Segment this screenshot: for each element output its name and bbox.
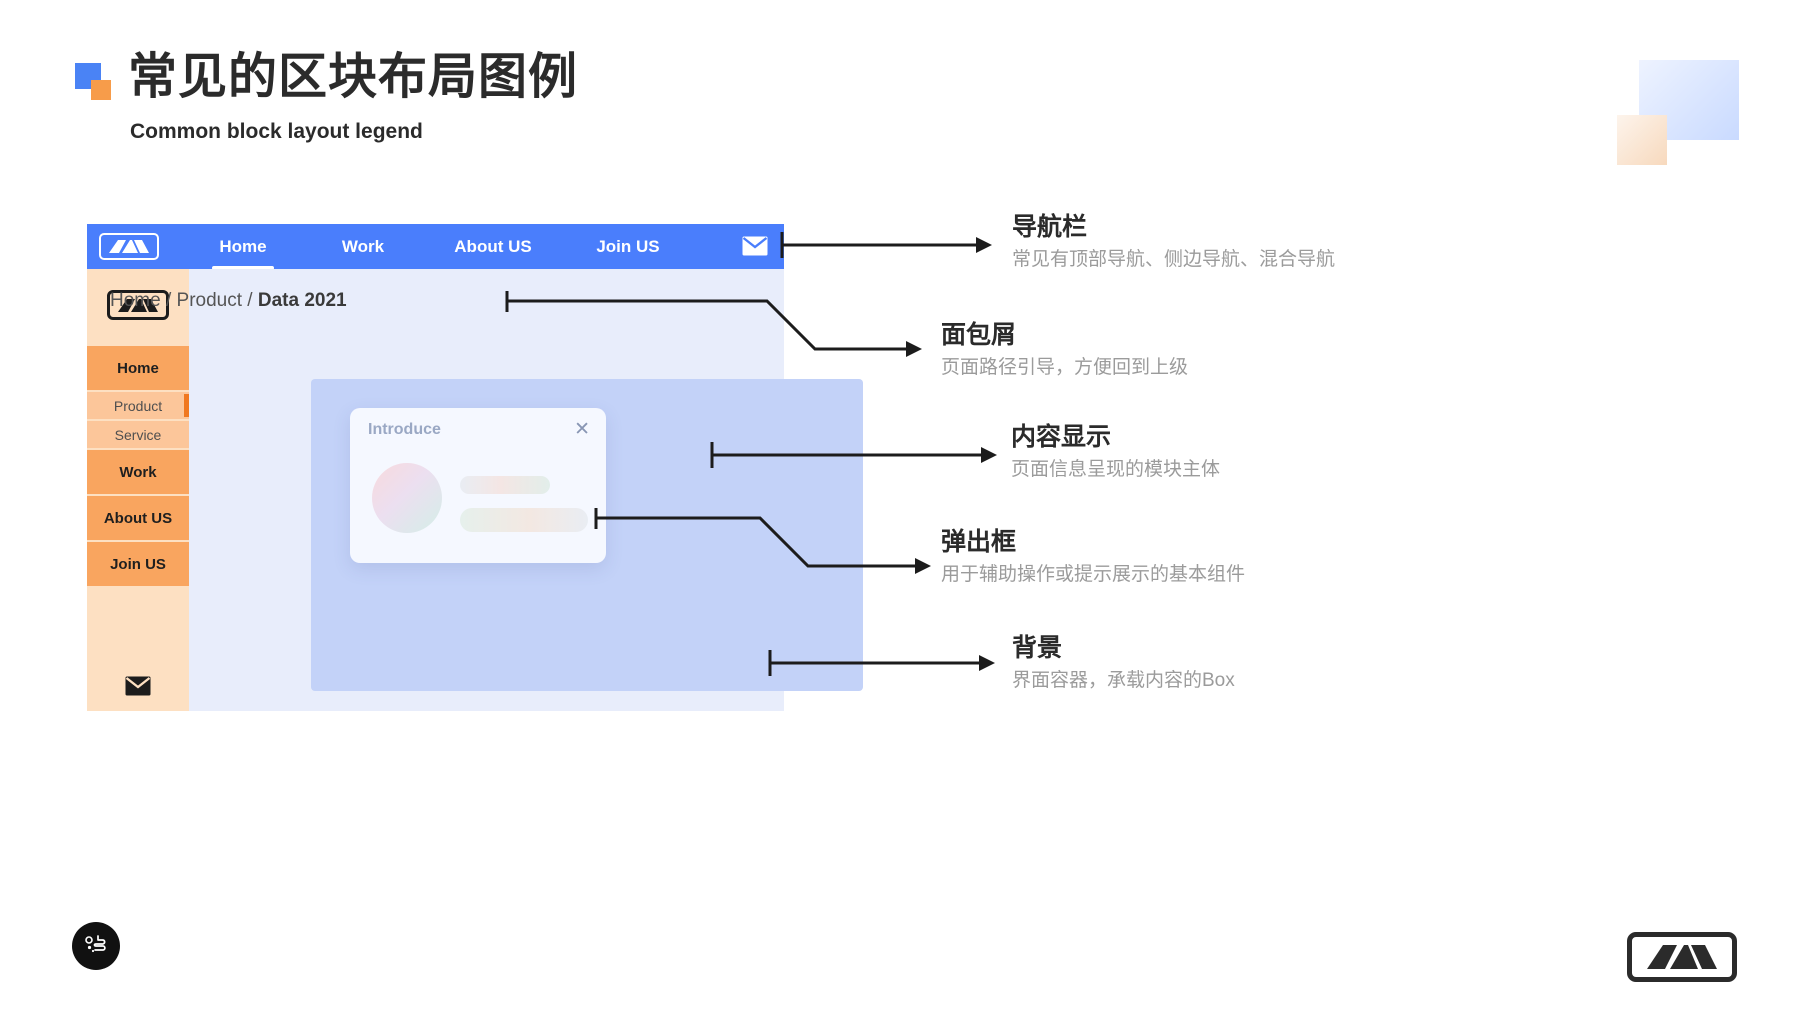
leader-line-background xyxy=(768,648,998,678)
annotation-breadcrumb-desc: 页面路径引导，方便回到上级 xyxy=(941,356,1188,381)
annotation-modal-desc: 用于辅助操作或提示展示的基本组件 xyxy=(941,563,1245,588)
annotation-navbar: 导航栏 常见有顶部导航、侧边导航、混合导航 xyxy=(1012,212,1335,273)
page-subtitle: Common block layout legend xyxy=(130,120,423,144)
sidebar-item-work[interactable]: Work xyxy=(87,450,189,494)
breadcrumb-item-current: Data 2021 xyxy=(258,290,347,311)
mail-icon[interactable] xyxy=(742,236,768,256)
sidebar-item-home[interactable]: Home xyxy=(87,346,189,390)
page-title: 常见的区块布局图例 xyxy=(128,51,578,105)
modal-dialog: Introduce ✕ xyxy=(350,408,606,563)
brand-badge-icon xyxy=(72,922,120,970)
close-icon[interactable]: ✕ xyxy=(574,420,590,439)
sidebar-mail-icon[interactable] xyxy=(125,676,151,696)
modal-title: Introduce xyxy=(368,421,441,439)
sidebar-item-about-us[interactable]: About US xyxy=(87,496,189,540)
mockup-sidebar: Home Product Service Work About US Join … xyxy=(87,269,189,711)
footer-mountain-logo-icon xyxy=(1627,932,1737,982)
annotation-breadcrumb-title: 面包屑 xyxy=(941,320,1188,351)
breadcrumb-separator-1: / xyxy=(166,290,171,311)
breadcrumb: Home / Product / Data 2021 xyxy=(110,290,347,312)
sidebar-item-product[interactable]: Product xyxy=(87,392,189,419)
nav-item-work[interactable]: Work xyxy=(303,237,423,257)
mockup-nav-list: Home Work About US Join US xyxy=(183,224,693,269)
breadcrumb-item-product[interactable]: Product xyxy=(177,290,242,311)
nav-item-home[interactable]: Home xyxy=(183,237,303,257)
breadcrumb-item-home[interactable]: Home xyxy=(110,290,161,311)
annotation-navbar-title: 导航栏 xyxy=(1012,212,1335,243)
placeholder-bar-2 xyxy=(460,508,588,532)
leader-line-breadcrumb xyxy=(505,288,925,368)
annotation-content: 内容显示 页面信息呈现的模块主体 xyxy=(1011,422,1220,483)
nav-item-about-us[interactable]: About US xyxy=(423,237,563,257)
breadcrumb-separator-2: / xyxy=(247,290,252,311)
header-accent-square-orange xyxy=(91,80,111,100)
annotation-content-desc: 页面信息呈现的模块主体 xyxy=(1011,458,1220,483)
sidebar-item-service[interactable]: Service xyxy=(87,421,189,448)
leader-line-content xyxy=(710,440,1000,470)
annotation-modal-title: 弹出框 xyxy=(941,527,1245,558)
annotation-navbar-desc: 常见有顶部导航、侧边导航、混合导航 xyxy=(1012,248,1335,273)
leader-line-modal xyxy=(594,505,934,585)
leader-line-navbar xyxy=(780,230,995,260)
annotation-background-title: 背景 xyxy=(1012,633,1235,664)
annotation-content-title: 内容显示 xyxy=(1011,422,1220,453)
placeholder-bar-1 xyxy=(460,476,550,494)
avatar xyxy=(372,463,442,533)
mountain-logo-icon xyxy=(99,233,159,260)
sidebar-menu-list: Home Product Service Work About US Join … xyxy=(87,346,189,588)
mockup-top-navbar: Home Work About US Join US xyxy=(87,224,784,269)
nav-item-join-us[interactable]: Join US xyxy=(563,237,693,257)
annotation-background: 背景 界面容器，承载内容的Box xyxy=(1012,633,1235,694)
annotation-modal: 弹出框 用于辅助操作或提示展示的基本组件 xyxy=(941,527,1245,588)
decorative-square-orange xyxy=(1617,115,1667,165)
sidebar-item-join-us[interactable]: Join US xyxy=(87,542,189,586)
annotation-background-desc: 界面容器，承载内容的Box xyxy=(1012,669,1235,694)
annotation-breadcrumb: 面包屑 页面路径引导，方便回到上级 xyxy=(941,320,1188,381)
